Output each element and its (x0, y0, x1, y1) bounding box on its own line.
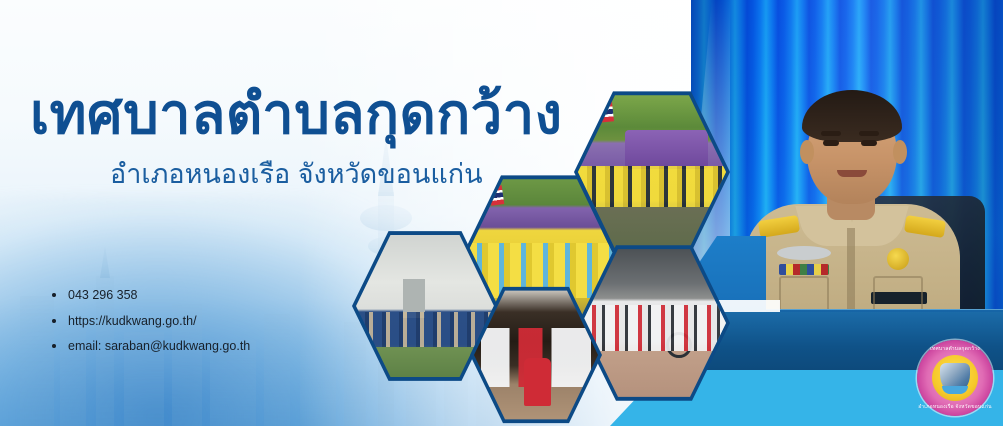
municipal-seal[interactable]: เทศบาลตำบลกุดกว้าง อำเภอหนองเรือ จังหวัด… (917, 340, 993, 416)
building-door (403, 279, 425, 317)
thai-flag-icon (488, 185, 504, 206)
purple-stage-backdrop (625, 130, 708, 168)
seal-text-bottom: อำเภอหนองเรือ จังหวัดขอนแก่น (917, 403, 993, 411)
seal-inner-disc (932, 355, 978, 401)
seal-water-icon (942, 386, 968, 394)
seal-text-top: เทศบาลตำบลกุดกว้าง (917, 345, 993, 353)
wheelchair-icon (666, 332, 692, 358)
photo-collage (0, 0, 1003, 426)
thai-flag-icon (598, 101, 614, 122)
elderly-red-dress (524, 358, 551, 406)
municipality-banner: เทศบาลตำบลกุดกว้าง อำเภอหนองเรือ จังหวัด… (0, 0, 1003, 426)
